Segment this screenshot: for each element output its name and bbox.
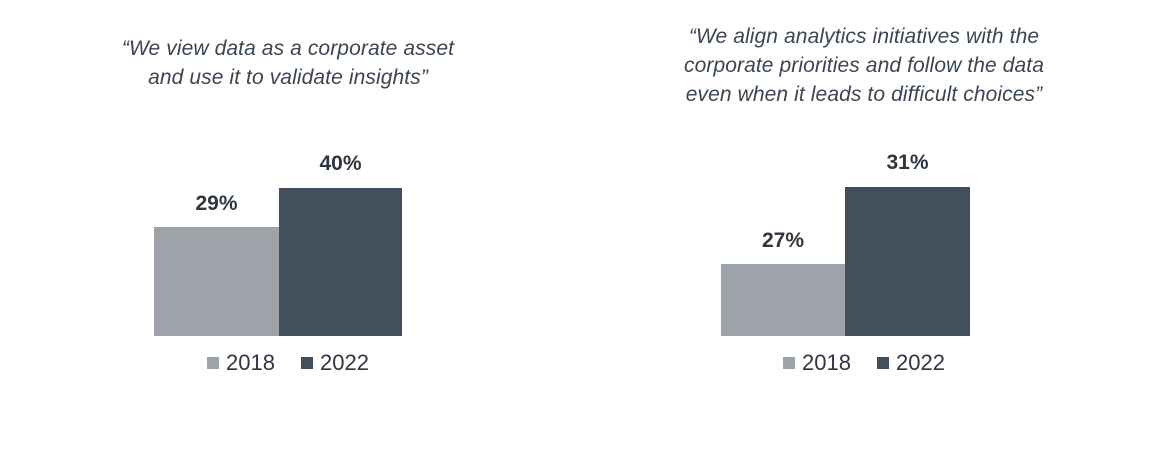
- plot-area-left: 29% 40% 2018 2022: [0, 0, 576, 470]
- bar-right-2018[interactable]: [721, 264, 845, 336]
- legend-swatch-icon-2022: [877, 357, 889, 369]
- legend-item-right-2018[interactable]: 2018: [783, 352, 851, 374]
- bar-label-right-2018: 27%: [721, 229, 845, 253]
- legend-swatch-icon-2022: [301, 357, 313, 369]
- chart-panel-left: “We view data as a corporate asset and u…: [0, 0, 576, 470]
- legend-swatch-icon-2018: [783, 357, 795, 369]
- bar-left-2018[interactable]: [154, 227, 279, 336]
- legend-item-left-2018[interactable]: 2018: [207, 352, 275, 374]
- bar-left-2022[interactable]: [279, 188, 402, 336]
- chart-figure: “We view data as a corporate asset and u…: [0, 0, 1152, 470]
- legend-left: 2018 2022: [0, 352, 576, 374]
- legend-swatch-icon-2018: [207, 357, 219, 369]
- legend-right: 2018 2022: [576, 352, 1152, 374]
- legend-item-left-2022[interactable]: 2022: [301, 352, 369, 374]
- bar-label-right-2022: 31%: [845, 151, 970, 175]
- legend-label-left-2022: 2022: [320, 352, 369, 374]
- bar-label-left-2018: 29%: [154, 192, 279, 216]
- legend-label-right-2022: 2022: [896, 352, 945, 374]
- bar-label-left-2022: 40%: [279, 152, 402, 176]
- legend-label-right-2018: 2018: [802, 352, 851, 374]
- legend-item-right-2022[interactable]: 2022: [877, 352, 945, 374]
- bar-right-2022[interactable]: [845, 187, 970, 336]
- chart-panel-right: “We align analytics initiatives with the…: [576, 0, 1152, 470]
- plot-area-right: 27% 31% 2018 2022: [576, 0, 1152, 470]
- legend-label-left-2018: 2018: [226, 352, 275, 374]
